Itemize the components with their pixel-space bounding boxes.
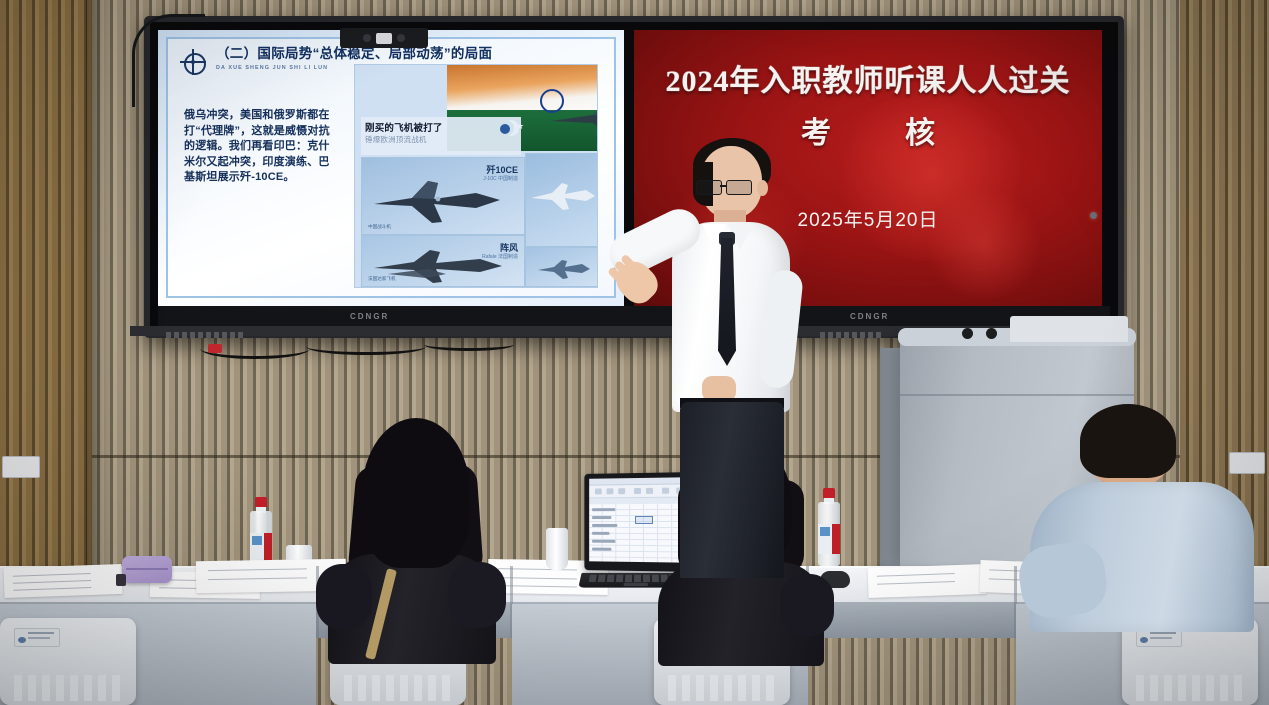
left-screen-presentation[interactable]: （二）国际局势“总体稳定、局部动荡”的局面 DA XUE SHENG JUN S… (158, 30, 624, 306)
presenter-glasses-icon (696, 180, 754, 193)
pencil-pouch[interactable] (122, 556, 172, 583)
observer-1 (316, 418, 506, 618)
jet-icon-d (536, 256, 592, 282)
display-brand-left: CDNGR (350, 312, 389, 321)
rafale-jet-icon (368, 244, 508, 286)
thermos-cup-center[interactable] (546, 528, 568, 570)
slide-title: （二）国际局势“总体稳定、局部动荡”的局面 (216, 46, 492, 62)
rafale-photo: 阵风 Rafale 法国制造 法国达索飞机 (361, 235, 525, 287)
j10ce-photo: 歼10CE J-10C 中国制造 中国战斗机 (361, 157, 525, 235)
slide-image-collage: ★ 刚买的飞机被打了 锤爆欧洲顶流战机 歼10CE (354, 64, 598, 288)
slide-body-text: 俄乌冲突，美国和俄罗斯都在打“代理牌”，这就是威慑对抗的逻辑。我们再看印巴：克什… (184, 108, 334, 186)
title-slide-line1: 2024年入职教师听课人人过关 (634, 56, 1102, 100)
presenter-trousers (680, 402, 784, 578)
hanging-cable-3 (424, 338, 514, 351)
papers-right-1 (868, 564, 987, 598)
collage-subhead: 锤爆欧洲顶流战机 (365, 134, 427, 145)
laptop-trackpad[interactable] (624, 583, 649, 586)
presenter-ear (757, 180, 768, 196)
collage-headline: 刚买的飞机被打了 (365, 120, 443, 134)
podium-seam (900, 394, 1134, 396)
classroom-scene: （二）国际局势“总体稳定、局部动荡”的局面 DA XUE SHENG JUN S… (0, 0, 1269, 705)
papers-left-1 (4, 564, 123, 598)
j10ce-jet-icon (368, 172, 508, 226)
jet-icon-c (528, 178, 598, 214)
jet-photo-right-top (525, 153, 598, 247)
presenter-teacher (596, 140, 826, 570)
observer-1-sleeve-left (316, 564, 372, 630)
camera-cable (132, 14, 205, 107)
podium-knob-1-icon[interactable] (962, 328, 973, 339)
display-power-led-icon (1090, 212, 1097, 219)
jet-photo-right-bottom (525, 247, 598, 287)
chair-1[interactable] (0, 618, 136, 705)
observer-3-hair (1080, 404, 1176, 478)
observer-1-sleeve-right (448, 562, 506, 628)
podium-control-monitor[interactable] (1010, 316, 1128, 342)
display-brand-right: CDNGR (850, 312, 889, 321)
recording-camera-icon (340, 28, 428, 48)
podium-knob-2-icon[interactable] (986, 328, 997, 339)
slide-canvas: （二）国际局势“总体稳定、局部动荡”的局面 DA XUE SHENG JUN S… (158, 30, 624, 306)
red-cable-plug (208, 344, 222, 353)
observer-1-hair (362, 418, 470, 568)
presenter-pointing-hand (609, 255, 664, 310)
news-source-logo-icon (495, 121, 515, 137)
presenter-necktie (718, 238, 736, 366)
hanging-cable-2 (306, 338, 426, 355)
wall-outlet-plate-left[interactable] (2, 456, 40, 478)
observer-3 (1028, 404, 1258, 624)
fighter-jet-overlay (547, 91, 597, 145)
observer-2-sleeve-right (780, 574, 834, 636)
